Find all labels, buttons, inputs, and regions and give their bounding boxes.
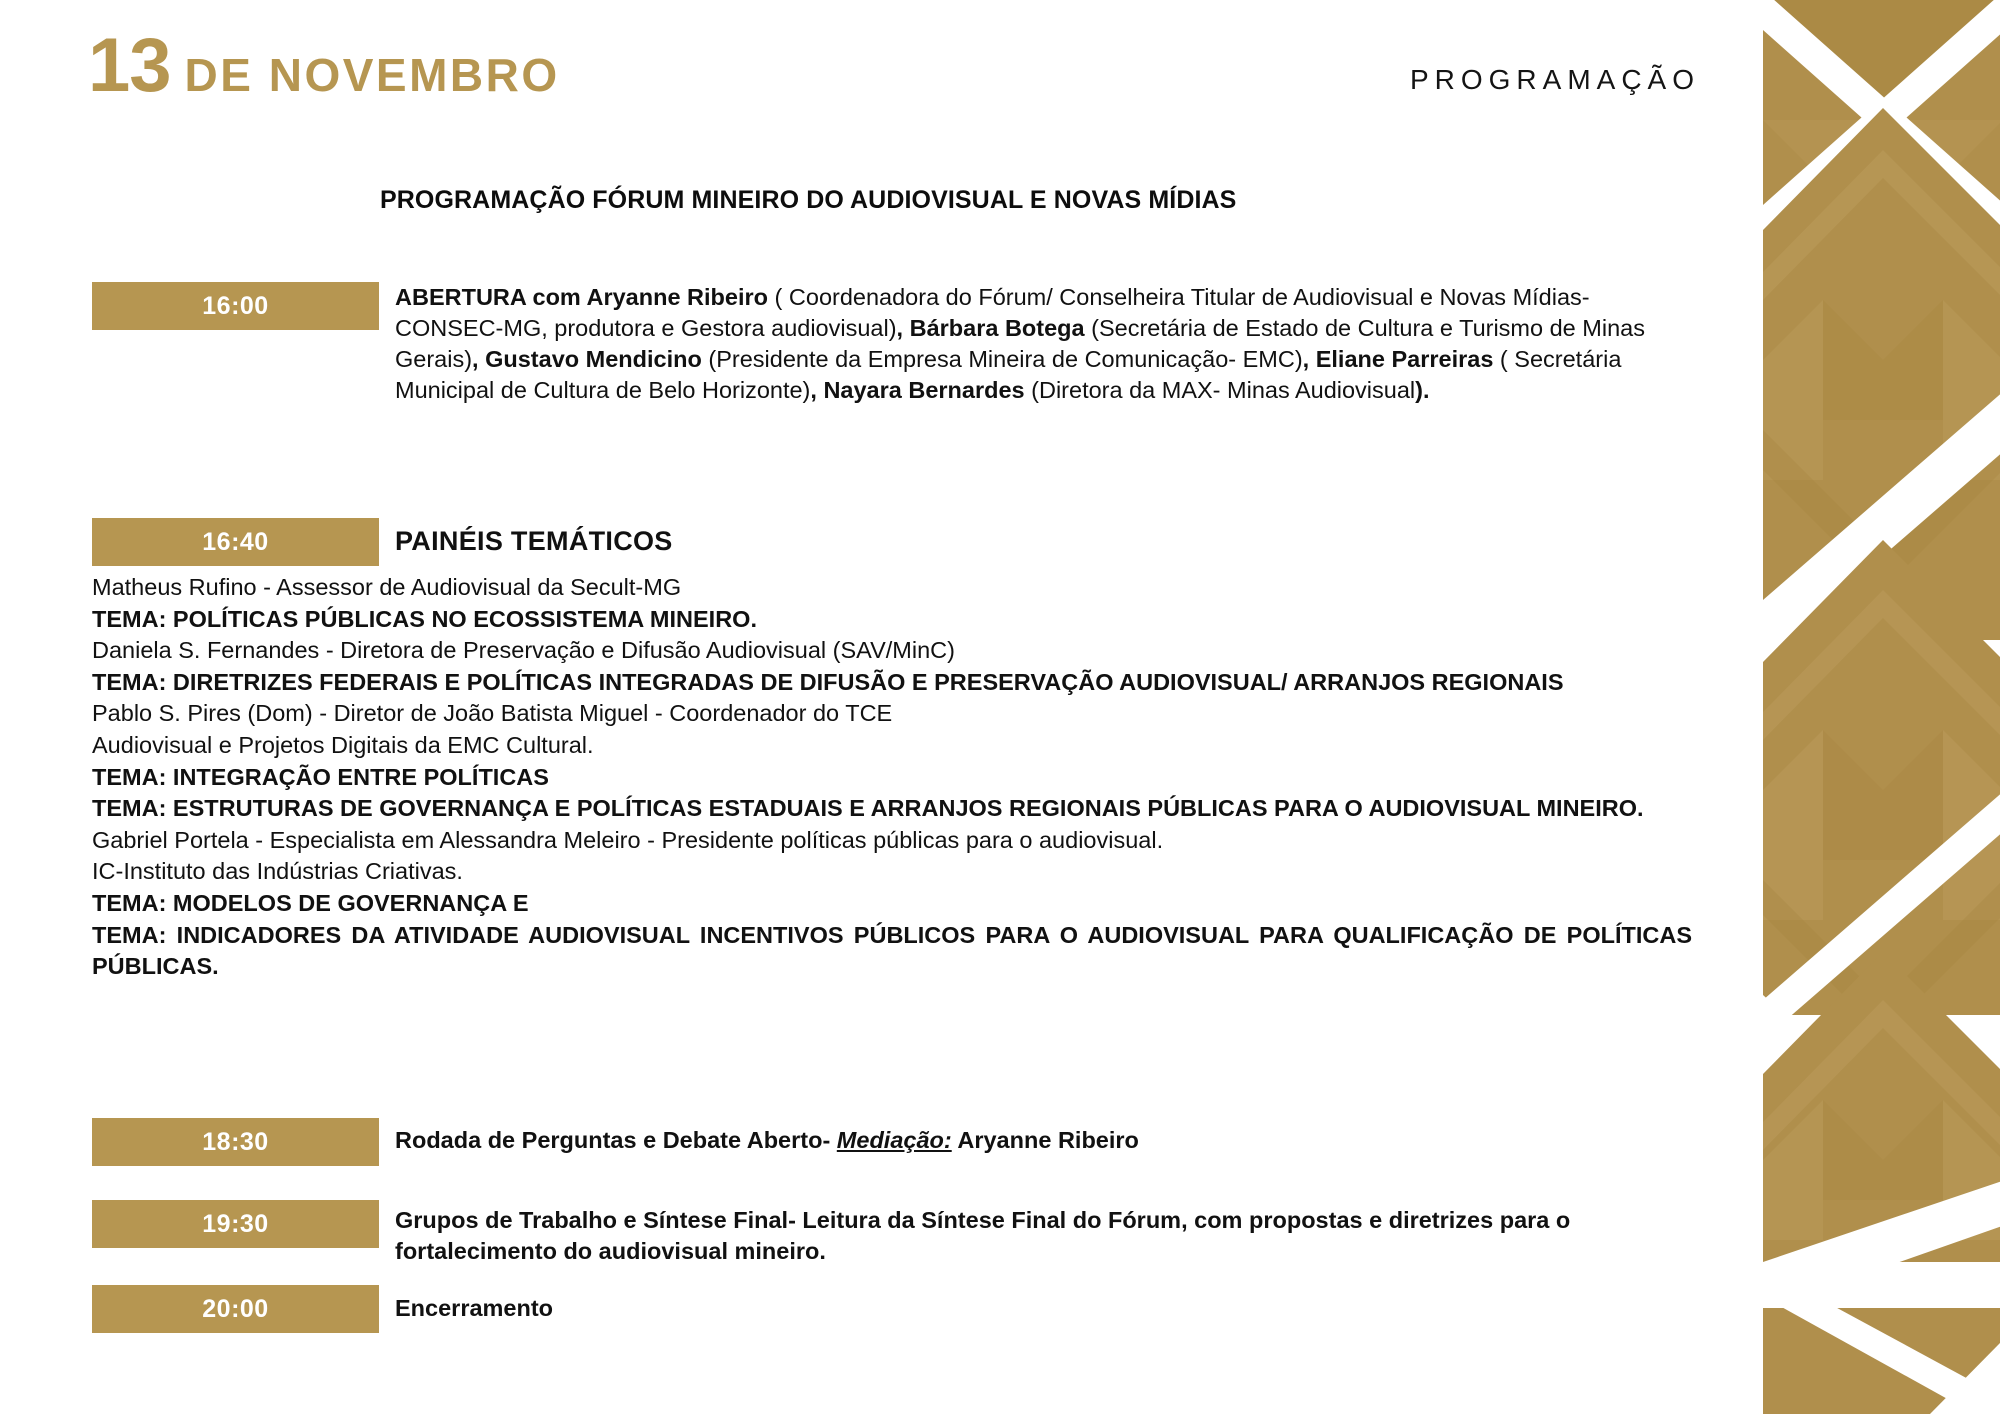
abertura-segment-6: , Eliane Parreiras bbox=[1303, 346, 1494, 372]
painel-tema-10: TEMA: MODELOS DE GOVERNANÇA E bbox=[92, 888, 1692, 920]
time-badge-1600: 16:00 bbox=[92, 282, 379, 330]
abertura-segment-2: , Bárbara Botega bbox=[897, 315, 1085, 341]
page-header: 13DE NOVEMBRO PROGRAMAÇÃO bbox=[88, 28, 1700, 124]
forum-subtitle: PROGRAMAÇÃO FÓRUM MINEIRO DO AUDIOVISUAL… bbox=[380, 186, 1236, 215]
painel-speaker-5: Audiovisual e Projetos Digitais da EMC C… bbox=[92, 730, 1692, 762]
encerramento-text: Encerramento bbox=[395, 1285, 553, 1324]
schedule-row-1830: 18:30 Rodada de Perguntas e Debate Abert… bbox=[92, 1118, 1592, 1166]
abertura-segment-0: ABERTURA com Aryanne Ribeiro bbox=[395, 284, 768, 310]
painel-speaker-9: IC-Instituto das Indústrias Criativas. bbox=[92, 856, 1692, 888]
abertura-segment-9: (Diretora da MAX- Minas Audiovisual bbox=[1025, 377, 1416, 403]
schedule-row-1930: 19:30 Grupos de Trabalho e Síntese Final… bbox=[92, 1200, 1592, 1267]
painel-speaker-0: Matheus Rufino - Assessor de Audiovisual… bbox=[92, 572, 1692, 604]
paineis-tematicos-title: PAINÉIS TEMÁTICOS bbox=[395, 518, 673, 560]
abertura-paragraph: ABERTURA com Aryanne Ribeiro ( Coordenad… bbox=[395, 282, 1677, 406]
abertura-segment-4: , Gustavo Mendicino bbox=[472, 346, 702, 372]
painel-tema-7: TEMA: ESTRUTURAS DE GOVERNANÇA E POLÍTIC… bbox=[92, 793, 1692, 825]
time-badge-2000: 20:00 bbox=[92, 1285, 379, 1333]
painel-tema-1: TEMA: POLÍTICAS PÚBLICAS NO ECOSSISTEMA … bbox=[92, 604, 1692, 636]
rodada-segment-0: Rodada de Perguntas e Debate Aberto- bbox=[395, 1127, 837, 1153]
painel-tema-11: TEMA: INDICADORES DA ATIVIDADE AUDIOVISU… bbox=[92, 920, 1692, 983]
abertura-segment-5: (Presidente da Empresa Mineira de Comuni… bbox=[702, 346, 1303, 372]
time-badge-1830: 18:30 bbox=[92, 1118, 379, 1166]
paineis-list: Matheus Rufino - Assessor de Audiovisual… bbox=[92, 572, 1692, 983]
abertura-segment-8: , Nayara Bernardes bbox=[810, 377, 1024, 403]
rodada-segment-1: Mediação: bbox=[837, 1127, 952, 1153]
schedule-row-1640: 16:40 PAINÉIS TEMÁTICOS bbox=[92, 518, 1092, 566]
header-programacao-label: PROGRAMAÇÃO bbox=[1410, 64, 1700, 96]
painel-tema-3: TEMA: DIRETRIZES FEDERAIS E POLÍTICAS IN… bbox=[92, 667, 1692, 699]
gold-chevron-pattern-icon bbox=[1755, 0, 2000, 1414]
time-badge-1640: 16:40 bbox=[92, 518, 379, 566]
rodada-perguntas-text: Rodada de Perguntas e Debate Aberto- Med… bbox=[395, 1118, 1139, 1156]
painel-speaker-8: Gabriel Portela - Especialista em Alessa… bbox=[92, 825, 1692, 857]
date-title: 13DE NOVEMBRO bbox=[88, 28, 560, 104]
schedule-row-1600: 16:00 ABERTURA com Aryanne Ribeiro ( Coo… bbox=[92, 282, 1692, 406]
time-badge-1930: 19:30 bbox=[92, 1200, 379, 1248]
content-column: 13DE NOVEMBRO PROGRAMAÇÃO PROGRAMAÇÃO FÓ… bbox=[0, 0, 1740, 1414]
rodada-segment-2: Aryanne Ribeiro bbox=[952, 1127, 1139, 1153]
painel-tema-6: TEMA: INTEGRAÇÃO ENTRE POLÍTICAS bbox=[92, 762, 1692, 794]
programacao-page: { "colors": { "gold": "#B69651", "gold_d… bbox=[0, 0, 2000, 1414]
date-day: 13 bbox=[88, 23, 171, 108]
abertura-segment-10: ). bbox=[1415, 377, 1429, 403]
painel-speaker-2: Daniela S. Fernandes - Diretora de Prese… bbox=[92, 635, 1692, 667]
date-month: DE NOVEMBRO bbox=[185, 49, 560, 101]
painel-speaker-4: Pablo S. Pires (Dom) - Diretor de João B… bbox=[92, 698, 1692, 730]
schedule-row-2000: 20:00 Encerramento bbox=[92, 1285, 1092, 1333]
grupos-trabalho-text: Grupos de Trabalho e Síntese Final- Leit… bbox=[395, 1200, 1592, 1267]
